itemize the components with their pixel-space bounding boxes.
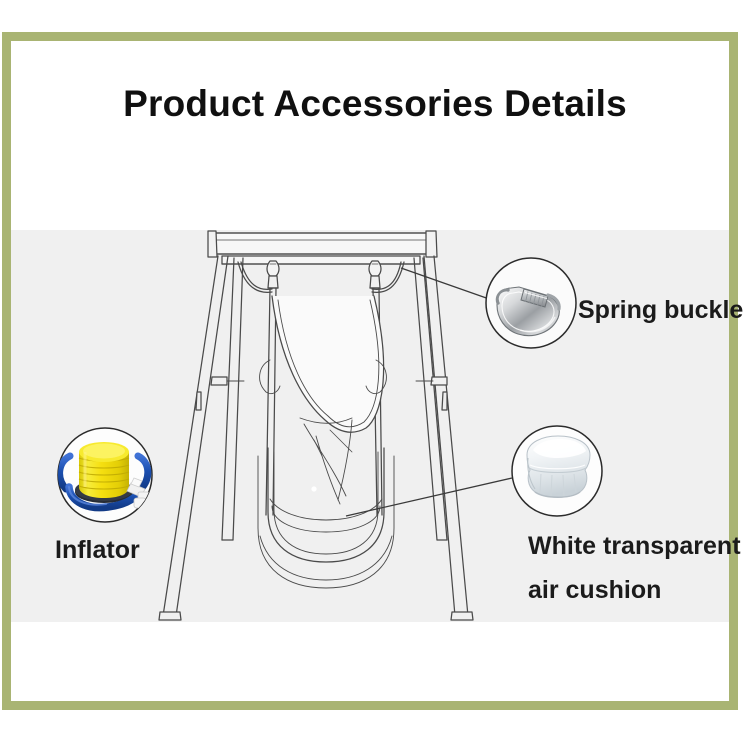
callout-label-air-cushion: White transparent air cushion	[528, 524, 741, 612]
air-cushion-label-line-2: air cushion	[528, 568, 741, 612]
callout-label-spring-buckle: Spring buckle	[578, 288, 743, 332]
air-cushion-label-line-1: White transparent	[528, 532, 741, 560]
page-title: Product Accessories Details	[0, 84, 750, 125]
infographic-canvas: Product Accessories Details	[0, 0, 750, 750]
callout-label-inflator: Inflator	[55, 528, 140, 572]
